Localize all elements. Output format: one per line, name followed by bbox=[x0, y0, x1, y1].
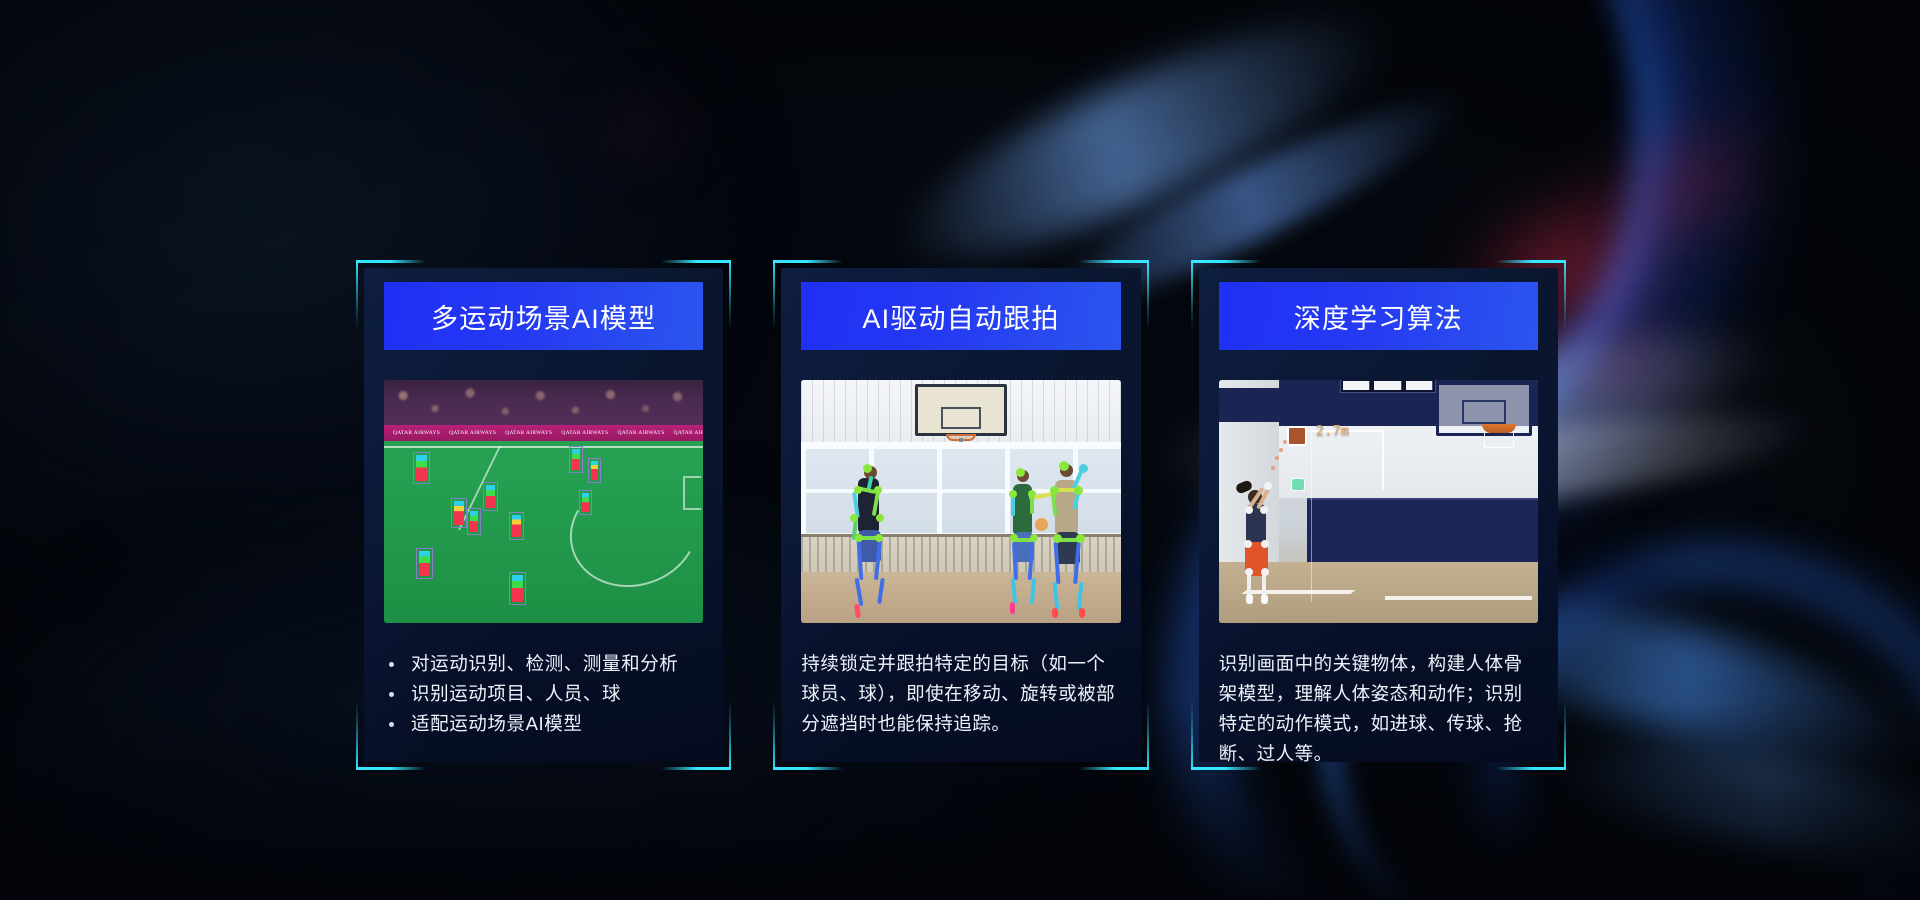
court-floor-line bbox=[1384, 596, 1531, 600]
skeleton-pose-overlay bbox=[846, 464, 916, 614]
player-skeleton-overlay bbox=[1238, 478, 1284, 608]
feature-card-deep-learning-algorithm[interactable]: 深度学习算法 bbox=[1191, 260, 1566, 770]
feature-card-row: 多运动场景AI模型 QATAR AIRWAYS QATAR AIRWAYS QA… bbox=[356, 260, 1566, 770]
court-wall-padding bbox=[1307, 498, 1538, 562]
skeleton-pose-overlay bbox=[1041, 458, 1113, 616]
banner-text: QATAR AIRWAYS bbox=[384, 430, 440, 436]
detection-box bbox=[413, 452, 430, 484]
banner-text-repeat-4: QATAR AIRWAYS bbox=[609, 430, 665, 436]
detection-box bbox=[509, 512, 524, 540]
basketball-net bbox=[1484, 432, 1514, 448]
ball-trajectory-point bbox=[1279, 448, 1283, 452]
card-content: 深度学习算法 bbox=[1219, 282, 1538, 750]
card-title: 多运动场景AI模型 bbox=[431, 297, 656, 336]
detection-box bbox=[483, 482, 498, 511]
banner-text-repeat-3: QATAR AIRWAYS bbox=[552, 430, 608, 436]
detection-box bbox=[451, 498, 467, 528]
measurement-label: 2.7m bbox=[1316, 424, 1349, 439]
measurement-line-vertical bbox=[1382, 430, 1384, 490]
advertising-banner: QATAR AIRWAYS QATAR AIRWAYS QATAR AIRWAY… bbox=[384, 425, 703, 441]
pitch-goal-box bbox=[683, 476, 701, 510]
card-description: 识别画面中的关键物体，构建人体骨架模型，理解人体姿态和动作；识别特定的动作模式，… bbox=[1219, 649, 1538, 769]
feature-bullet-list: 对运动识别、检测、测量和分析 识别运动项目、人员、球 适配运动场景AI模型 bbox=[384, 649, 703, 739]
card-title: 深度学习算法 bbox=[1294, 297, 1463, 336]
banner-text-repeat-2: QATAR AIRWAYS bbox=[496, 430, 552, 436]
soccer-pitch-detection-image: QATAR AIRWAYS QATAR AIRWAYS QATAR AIRWAY… bbox=[384, 380, 703, 623]
banner-text-repeat-1: QATAR AIRWAYS bbox=[440, 430, 496, 436]
detection-box bbox=[416, 548, 433, 579]
card-title-bar: AI驱动自动跟拍 bbox=[801, 282, 1120, 350]
court-pillar-navy-band bbox=[1219, 388, 1279, 422]
list-item: 识别运动项目、人员、球 bbox=[384, 679, 703, 709]
backboard bbox=[915, 384, 1007, 436]
detection-box bbox=[509, 572, 526, 605]
pitch-line-horizontal bbox=[384, 446, 703, 448]
player-detection-tag bbox=[1291, 478, 1305, 491]
ball-detection-box bbox=[1287, 426, 1307, 446]
list-item: 对运动识别、检测、测量和分析 bbox=[384, 649, 703, 679]
feature-card-ai-auto-tracking[interactable]: AI驱动自动跟拍 bbox=[773, 260, 1148, 770]
card-title: AI驱动自动跟拍 bbox=[862, 297, 1059, 336]
card-title-bar: 多运动场景AI模型 bbox=[384, 282, 703, 350]
card-title-bar: 深度学习算法 bbox=[1219, 282, 1538, 350]
measurement-line-drop bbox=[1311, 430, 1313, 602]
card-content: AI驱动自动跟拍 bbox=[801, 282, 1120, 750]
gym-basketball-pose-image bbox=[801, 380, 1120, 623]
basketball-shot-measurement-image: 2.7m bbox=[1219, 380, 1538, 623]
scoreboard bbox=[1340, 380, 1436, 393]
detection-box bbox=[588, 458, 601, 483]
ball-trajectory-point bbox=[1275, 456, 1279, 460]
card-description: 持续锁定并跟拍特定的目标（如一个球员、球），即使在移动、旋转或被部分遮挡时也能保… bbox=[801, 649, 1120, 739]
feature-card-multi-sport-ai-model[interactable]: 多运动场景AI模型 QATAR AIRWAYS QATAR AIRWAYS QA… bbox=[356, 260, 731, 770]
list-item: 适配运动场景AI模型 bbox=[384, 709, 703, 739]
detection-box bbox=[467, 508, 481, 535]
ball-trajectory-point bbox=[1283, 440, 1287, 444]
detection-box bbox=[579, 490, 592, 515]
detection-box bbox=[569, 446, 583, 473]
card-content: 多运动场景AI模型 QATAR AIRWAYS QATAR AIRWAYS QA… bbox=[384, 282, 703, 750]
banner-text-repeat-5: QATAR AIRWAYS bbox=[665, 430, 704, 436]
